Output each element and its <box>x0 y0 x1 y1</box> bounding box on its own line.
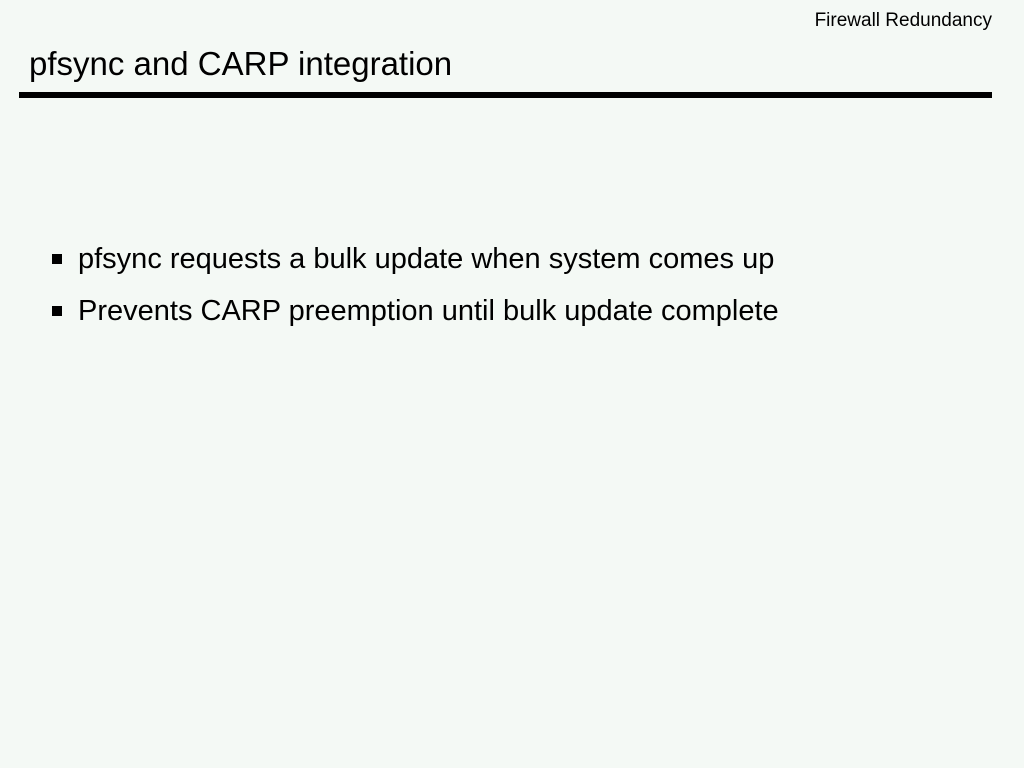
list-item-label: Prevents CARP preemption until bulk upda… <box>78 292 992 330</box>
slide-header-label: Firewall Redundancy <box>815 10 992 32</box>
list-item: pfsync requests a bulk update when syste… <box>52 240 992 278</box>
slide-title: pfsync and CARP integration <box>29 43 452 85</box>
list-item-label: pfsync requests a bulk update when syste… <box>78 240 992 278</box>
slide-body: pfsync requests a bulk update when syste… <box>0 104 1024 768</box>
list-item: Prevents CARP preemption until bulk upda… <box>52 292 992 330</box>
bullet-list: pfsync requests a bulk update when syste… <box>52 240 992 344</box>
square-bullet-icon <box>52 254 62 264</box>
title-divider-rule <box>19 92 992 98</box>
presentation-slide: Firewall Redundancy pfsync and CARP inte… <box>0 0 1024 768</box>
square-bullet-icon <box>52 306 62 316</box>
